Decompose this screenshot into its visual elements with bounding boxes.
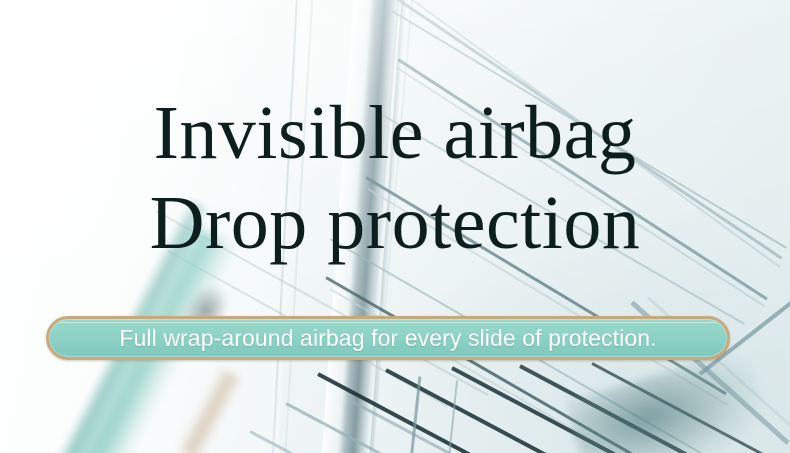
banner-content: Invisible airbag Drop protection Full wr… xyxy=(0,0,790,453)
product-feature-banner: Invisible airbag Drop protection Full wr… xyxy=(0,0,790,453)
ribbon-inner-highlight xyxy=(59,322,717,323)
headline: Invisible airbag Drop protection xyxy=(0,88,790,268)
headline-line-1: Invisible airbag xyxy=(0,88,790,178)
subtitle-text: Full wrap-around airbag for every slide … xyxy=(119,325,656,351)
headline-line-2: Drop protection xyxy=(0,178,790,268)
subtitle-ribbon: Full wrap-around airbag for every slide … xyxy=(46,316,730,360)
